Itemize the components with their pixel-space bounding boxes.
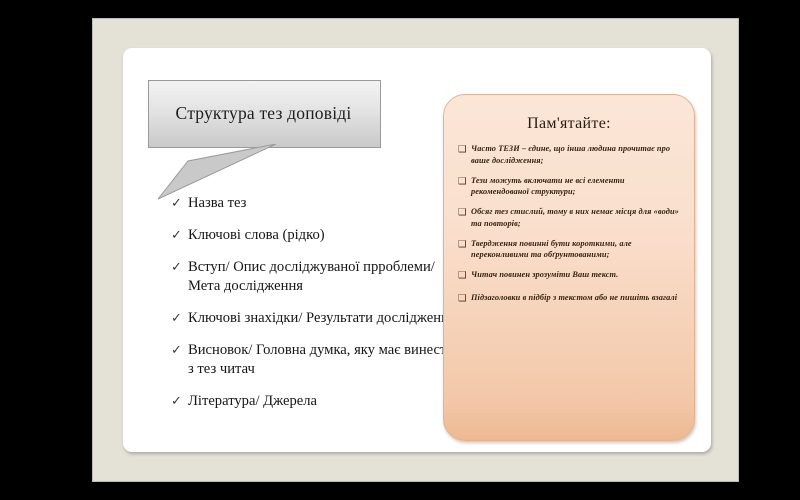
list-item-label: Часто ТЕЗИ – єдине, що інша людина прочи…: [471, 143, 682, 167]
square-bullet-icon: ❑: [458, 206, 471, 230]
list-item-label: Назва тез: [188, 194, 246, 213]
list-item-label: Тези можуть включати не всі елементи рек…: [471, 175, 682, 199]
slide-title: Структура тез доповіді: [148, 80, 379, 146]
check-icon: ✓: [171, 194, 188, 213]
slide-frame: Структура тез доповіді ✓ Назва тез ✓ Клю…: [93, 19, 738, 481]
list-item: ❑ Тези можуть включати не всі елементи р…: [458, 175, 682, 199]
square-bullet-icon: ❑: [458, 292, 471, 306]
check-icon: ✓: [171, 392, 188, 411]
check-icon: ✓: [171, 341, 188, 379]
list-item: ❑ Читач повинен зрозуміти Ваш текст.: [458, 269, 682, 283]
list-item: ✓ Висновок/ Головна думка, яку має винес…: [171, 341, 461, 379]
list-item-label: Підзаголовки в підбір з текстом або не п…: [471, 292, 677, 306]
memo-list: ❑ Часто ТЕЗИ – єдине, що інша людина про…: [444, 143, 694, 306]
list-item: ✓ Ключові слова (рідко): [171, 226, 461, 245]
list-item-label: Література/ Джерела: [188, 392, 317, 411]
list-item: ❑ Часто ТЕЗИ – єдине, що інша людина про…: [458, 143, 682, 167]
list-item-label: Ключові знахідки/ Результати дослідження: [188, 309, 456, 328]
list-item-label: Обсяг тез стислий, тому в них немає місц…: [471, 206, 682, 230]
list-item: ✓ Вступ/ Опис досліджуваної прроблеми/ М…: [171, 258, 461, 296]
list-item-label: Висновок/ Головна думка, яку має винести…: [188, 341, 461, 379]
square-bullet-icon: ❑: [458, 143, 471, 167]
slide-canvas: Структура тез доповіді ✓ Назва тез ✓ Клю…: [123, 48, 711, 452]
check-icon: ✓: [171, 226, 188, 245]
list-item-label: Вступ/ Опис досліджуваної прроблеми/ Мет…: [188, 258, 461, 296]
list-item-label: Читач повинен зрозуміти Ваш текст.: [471, 269, 618, 283]
checklist: ✓ Назва тез ✓ Ключові слова (рідко) ✓ Вс…: [171, 194, 461, 424]
list-item: ✓ Література/ Джерела: [171, 392, 461, 411]
square-bullet-icon: ❑: [458, 238, 471, 262]
memo-heading: Пам'ятайте:: [444, 115, 694, 133]
square-bullet-icon: ❑: [458, 269, 471, 283]
list-item: ❑ Твердження повинні бути короткими, але…: [458, 238, 682, 262]
list-item: ✓ Назва тез: [171, 194, 461, 213]
screenshot-root: Структура тез доповіді ✓ Назва тез ✓ Клю…: [0, 0, 800, 500]
memo-panel: Пам'ятайте: ❑ Часто ТЕЗИ – єдине, що інш…: [443, 94, 695, 441]
check-icon: ✓: [171, 258, 188, 296]
square-bullet-icon: ❑: [458, 175, 471, 199]
list-item: ❑ Підзаголовки в підбір з текстом або не…: [458, 292, 682, 306]
list-item: ✓ Ключові знахідки/ Результати досліджен…: [171, 309, 461, 328]
callout-shape: Структура тез доповіді: [148, 80, 379, 146]
list-item-label: Ключові слова (рідко): [188, 226, 325, 245]
check-icon: ✓: [171, 309, 188, 328]
list-item-label: Твердження повинні бути короткими, але п…: [471, 238, 682, 262]
list-item: ❑ Обсяг тез стислий, тому в них немає мі…: [458, 206, 682, 230]
